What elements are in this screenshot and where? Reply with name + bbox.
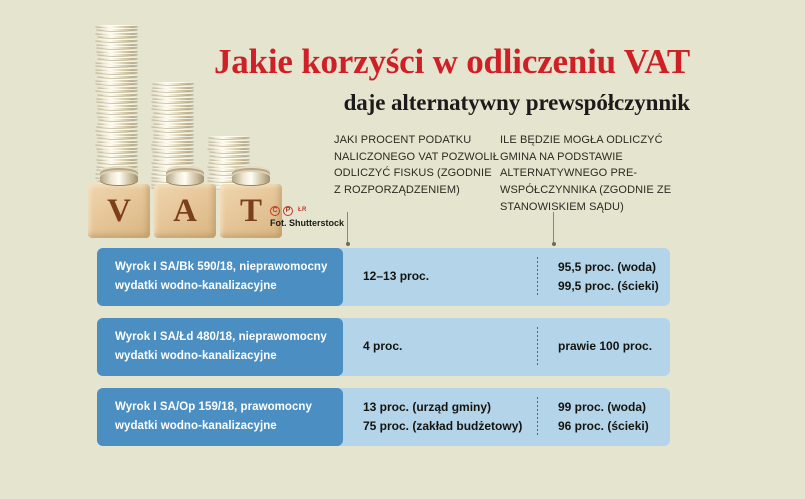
row-column1-value: 4 proc. (343, 318, 537, 376)
row-case-line1: Wyrok I SA/Łd 480/18, nieprawomocny (115, 328, 343, 347)
copyright-icon: C (270, 206, 280, 216)
row-column2-value: 95,5 proc. (woda) 99,5 proc. (ścieki) (538, 248, 670, 306)
row-column1-line1: 4 proc. (363, 337, 537, 356)
row-column1-value: 13 proc. (urząd gminy) 75 proc. (zakład … (343, 388, 537, 446)
row-case-label: Wyrok I SA/Op 159/18, prawomocny wydatki… (97, 388, 343, 446)
credit-initials: ŁR (298, 207, 307, 215)
coin-stack-tall (96, 25, 138, 190)
table-row: Wyrok I SA/Op 159/18, prawomocny wydatki… (97, 388, 670, 446)
row-case-label: Wyrok I SA/Bk 590/18, nieprawomocny wyda… (97, 248, 343, 306)
row-column1-line2: 75 proc. (zakład budżetowy) (363, 417, 537, 436)
vat-coins-photo: V A T (88, 28, 288, 238)
row-case-line1: Wyrok I SA/Bk 590/18, nieprawomocny (115, 258, 343, 277)
row-case-line2: wydatki wodno-kanalizacyjne (115, 417, 343, 436)
row-column2-line1: prawie 100 proc. (558, 337, 670, 356)
published-mark-icon: P (283, 206, 293, 216)
row-column2-value: prawie 100 proc. (538, 318, 670, 376)
credit-source: Fot. Shutterstock (270, 218, 344, 229)
row-case-line1: Wyrok I SA/Op 159/18, prawomocny (115, 398, 343, 417)
row-column1-line1: 13 proc. (urząd gminy) (363, 398, 537, 417)
table-row: Wyrok I SA/Bk 590/18, nieprawomocny wyda… (97, 248, 670, 306)
row-column2-value: 99 proc. (woda) 96 proc. (ścieki) (538, 388, 670, 446)
table-row: Wyrok I SA/Łd 480/18, nieprawomocny wyda… (97, 318, 670, 376)
pointer-line-column-2 (553, 212, 554, 244)
pointer-line-column-1 (347, 212, 348, 244)
row-case-label: Wyrok I SA/Łd 480/18, nieprawomocny wyda… (97, 318, 343, 376)
wooden-letter-blocks: V A T (88, 178, 288, 238)
credit-marks: C P ŁR (270, 206, 344, 216)
row-case-line2: wydatki wodno-kanalizacyjne (115, 347, 343, 366)
column-header-1: JAKI PROCENT PODATKU NALICZONEGO VAT POZ… (334, 132, 499, 199)
row-column1-value: 12–13 proc. (343, 248, 537, 306)
row-column2-line1: 95,5 proc. (woda) (558, 258, 670, 277)
photo-credit: C P ŁR Fot. Shutterstock (270, 206, 344, 229)
row-column2-line1: 99 proc. (woda) (558, 398, 670, 417)
row-case-line2: wydatki wodno-kanalizacyjne (115, 277, 343, 296)
block-letter-v: V (88, 184, 150, 238)
block-letter-a: A (154, 184, 216, 238)
row-column1-line1: 12–13 proc. (363, 267, 537, 286)
row-column2-line2: 99,5 proc. (ścieki) (558, 277, 670, 296)
column-header-2: ILE BĘDZIE MOGŁA ODLICZYĆ GMINA NA PODST… (500, 132, 690, 216)
row-column2-line2: 96 proc. (ścieki) (558, 417, 670, 436)
